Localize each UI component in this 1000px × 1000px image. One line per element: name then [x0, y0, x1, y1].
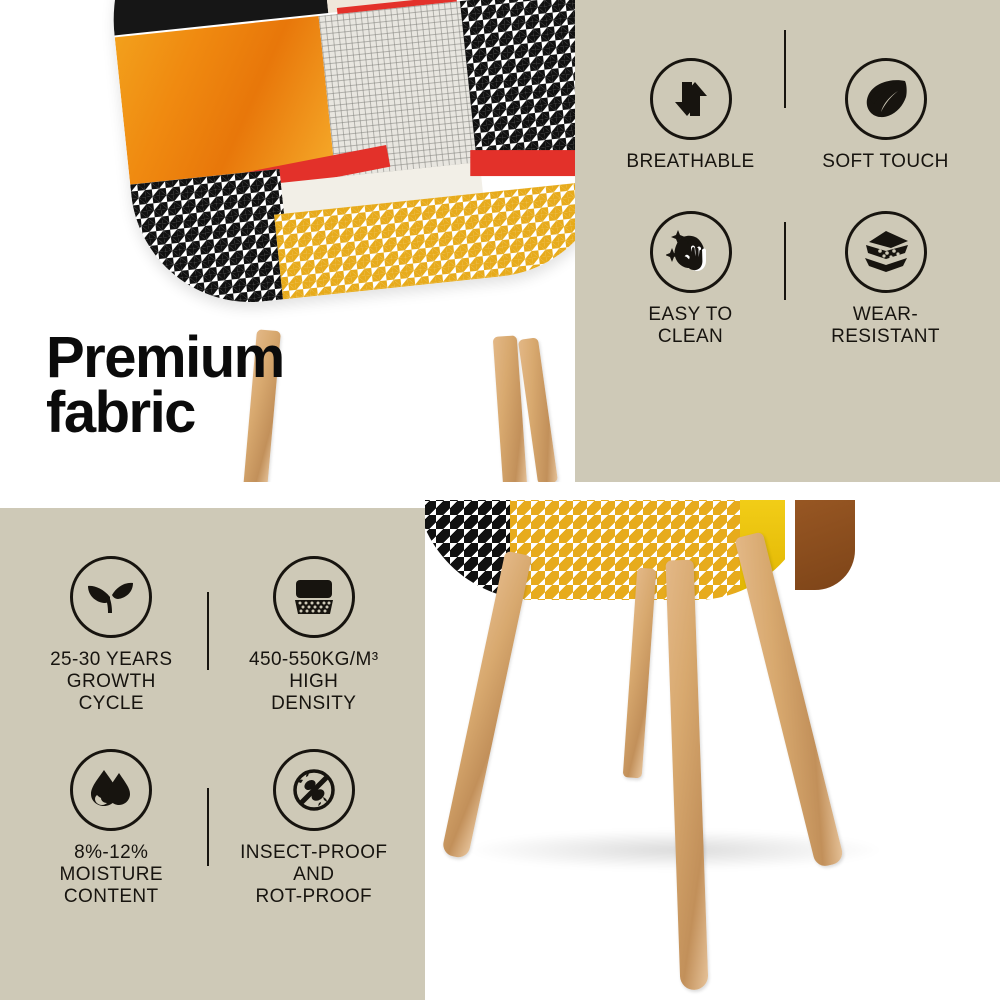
feature-soft-touch[interactable]: SOFT TOUCH: [788, 58, 983, 173]
feature-label: INSECT-PROOF AND ROT-PROOF: [240, 842, 387, 908]
water-drops-icon: [70, 749, 152, 831]
fabric-accent-red-right: [470, 150, 575, 176]
panel-premium-fabric-photo: Premium fabric: [0, 0, 575, 482]
layers-icon: [845, 211, 927, 293]
feature-label: WEAR- RESISTANT: [831, 304, 940, 348]
panel-wood-features: 25-30 YEARS GROWTH CYCLE: [0, 508, 425, 1000]
wood-divider-top: [207, 592, 209, 670]
feature-label: 450-550KG/M³ HIGH DENSITY: [249, 649, 378, 715]
feature-insect-proof[interactable]: INSECT-PROOF AND ROT-PROOF: [213, 749, 416, 908]
no-insect-icon: [273, 749, 355, 831]
patchwork-seat-image: [99, 0, 575, 314]
feature-label: EASY TO CLEAN: [648, 304, 732, 348]
sparkle-wipe-icon: [650, 211, 732, 293]
fabric-divider-top: [784, 30, 786, 108]
density-block-icon: [273, 556, 355, 638]
seat-brown-edge: [795, 500, 855, 590]
leaf-icon: [70, 556, 152, 638]
up-down-arrows-icon: [650, 58, 732, 140]
chair-legs-photo: [425, 500, 1000, 1000]
chair-leg-front-center: [666, 560, 709, 991]
fabric-patch-black-houndstooth-2: [130, 169, 293, 314]
feature-label: BREATHABLE: [626, 151, 754, 173]
feature-label: SOFT TOUCH: [822, 151, 948, 173]
headline-premium-fabric: Premium fabric: [46, 330, 284, 440]
infographic-canvas: Premium fabric BREATHABLE: [0, 0, 1000, 1000]
wood-feature-grid: 25-30 YEARS GROWTH CYCLE: [10, 556, 415, 908]
seat-yellow-houndstooth: [510, 500, 740, 600]
fabric-feature-grid: BREATHABLE SOFT TOUCH: [593, 58, 983, 348]
feature-growth-cycle[interactable]: 25-30 YEARS GROWTH CYCLE: [10, 556, 213, 715]
feature-high-density[interactable]: 450-550KG/M³ HIGH DENSITY: [213, 556, 416, 715]
wood-divider-bottom: [207, 788, 209, 866]
fabric-patch-black-houndstooth: [460, 0, 575, 175]
panel-solid-wood-photo: Solid wood structure: [425, 500, 1000, 1000]
feather-icon: [845, 58, 927, 140]
feature-label: 8%-12% MOISTURE CONTENT: [60, 842, 163, 908]
feature-breathable[interactable]: BREATHABLE: [593, 58, 788, 173]
feature-wear-resistant[interactable]: WEAR- RESISTANT: [788, 211, 983, 348]
panel-fabric-features: BREATHABLE SOFT TOUCH: [575, 0, 1000, 482]
feature-label: 25-30 YEARS GROWTH CYCLE: [50, 649, 172, 715]
feature-moisture-content[interactable]: 8%-12% MOISTURE CONTENT: [10, 749, 213, 908]
feature-easy-to-clean[interactable]: EASY TO CLEAN: [593, 211, 788, 348]
fabric-divider-bottom: [784, 222, 786, 300]
fabric-patch-orange: [115, 16, 334, 185]
